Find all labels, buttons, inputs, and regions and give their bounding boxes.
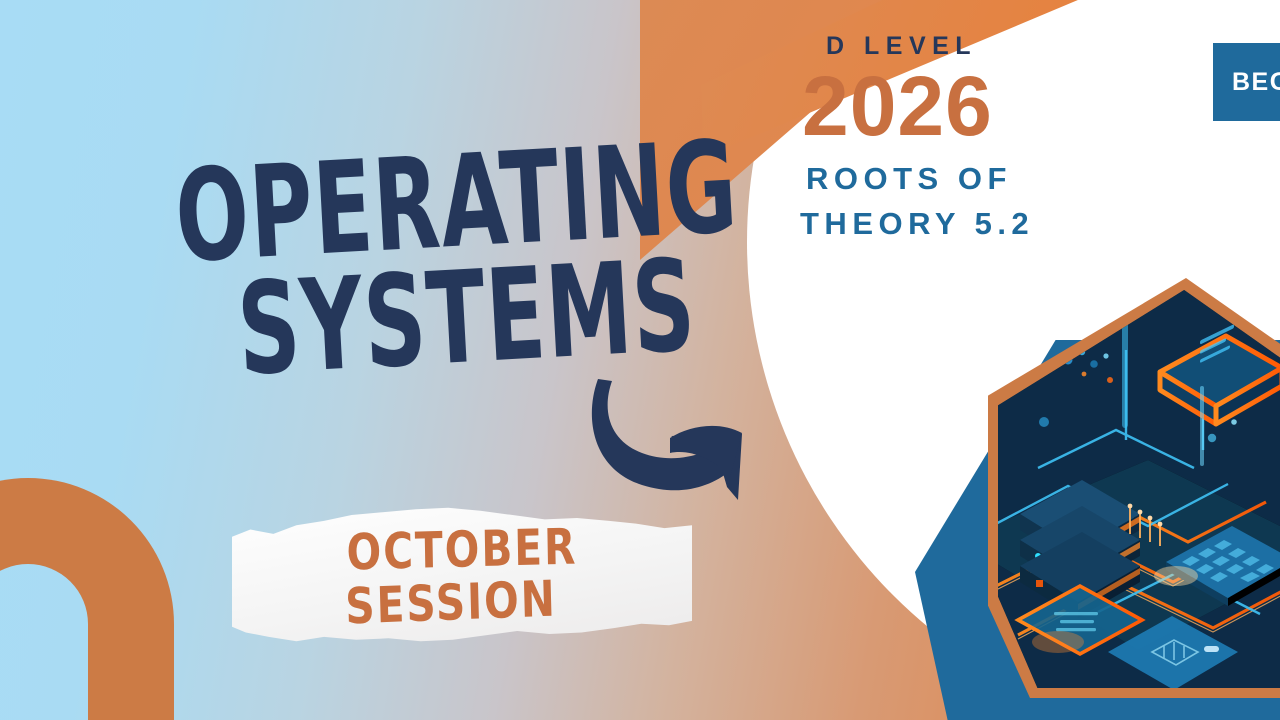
- banner-line-2: SESSION: [345, 573, 558, 633]
- heading-subtitle-line1: ROOTS OF: [806, 163, 1270, 194]
- torn-paper-banner: OCTOBER SESSION: [232, 502, 692, 647]
- orange-hook-shape: [0, 478, 174, 720]
- right-heading-block: D LEVEL 2026 ROOTS OF THEORY 5.2: [800, 34, 1270, 239]
- heading-kicker: D LEVEL: [826, 34, 1270, 59]
- curved-arrow-icon: [570, 365, 780, 525]
- poster-canvas: D LEVEL 2026 ROOTS OF THEORY 5.2 BEG OPE…: [0, 0, 1280, 720]
- heading-year: 2026: [802, 65, 1270, 147]
- page-title: OPERATING SYSTEMS: [173, 134, 703, 369]
- heading-subtitle-line2: THEORY 5.2: [800, 208, 1270, 239]
- torn-paper-text: OCTOBER SESSION: [232, 502, 692, 647]
- corner-badge: BEG: [1213, 43, 1280, 121]
